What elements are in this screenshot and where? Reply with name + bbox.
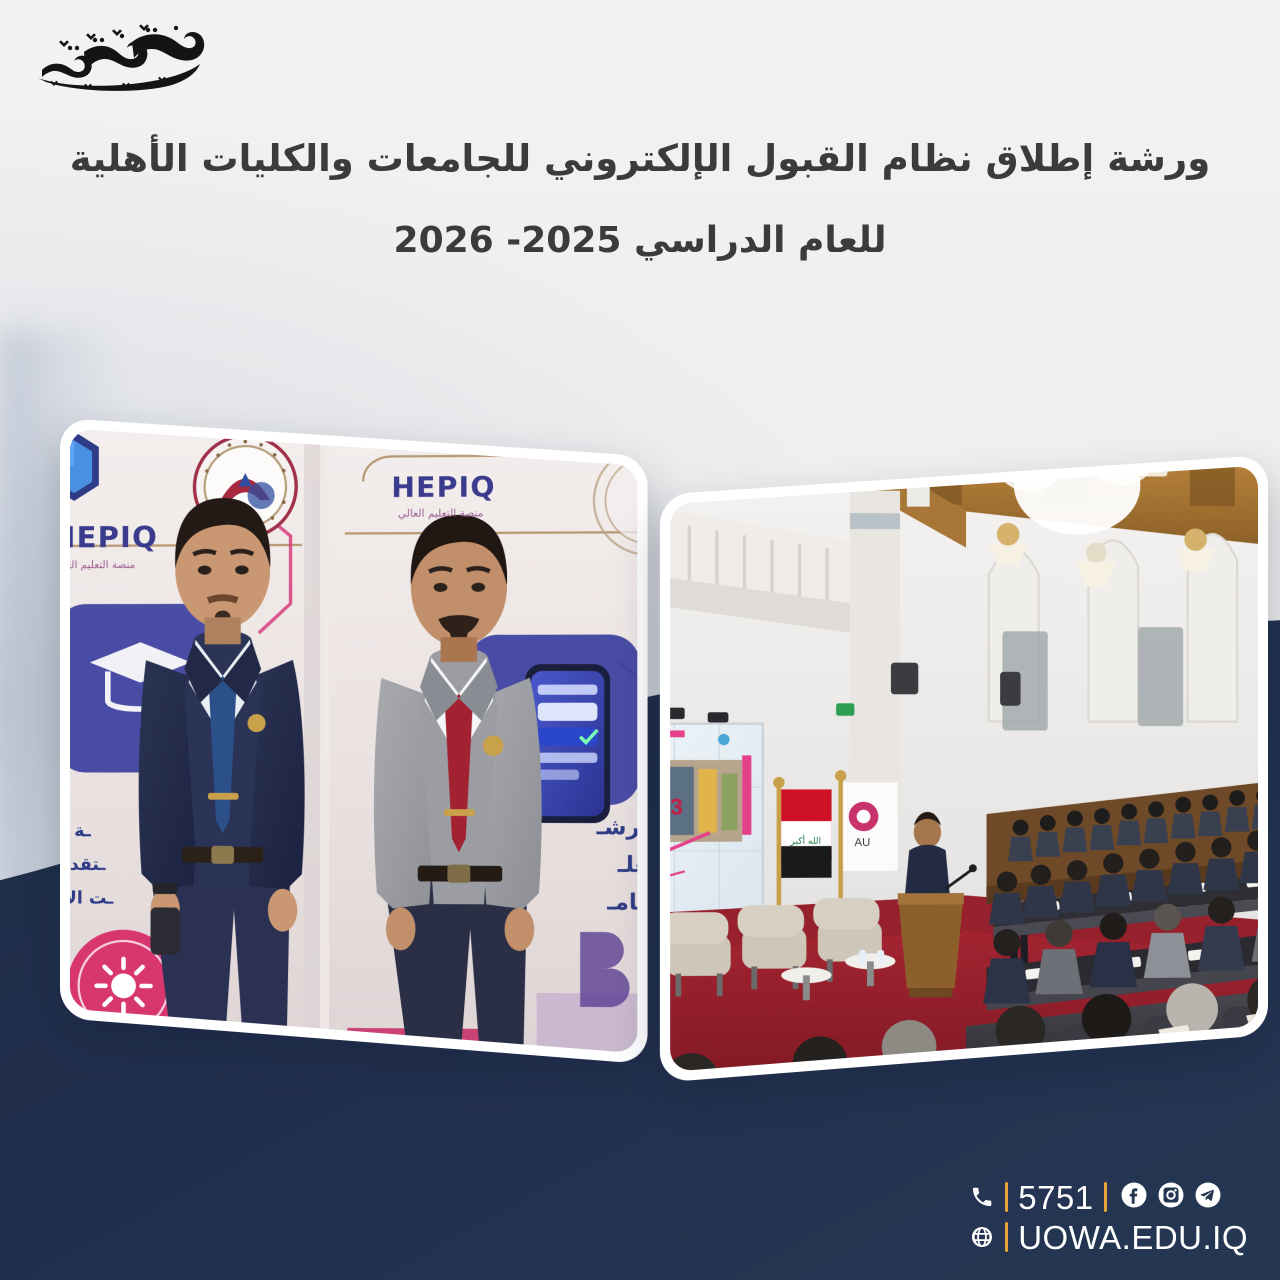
phone-number: 5751 xyxy=(1018,1181,1093,1214)
backdrop-arabic-right-2: وتعلـ xyxy=(618,851,638,877)
phone-row: 5751 xyxy=(969,1180,1222,1214)
hepiq-subtitle-right: منصة التعليم العالي xyxy=(398,508,483,520)
hepiq-backdrop-scene: HEPIQ منصة التعليم العالي HEPIQ منصة الت… xyxy=(70,429,637,1054)
divider xyxy=(1104,1182,1107,1212)
instagram-icon[interactable] xyxy=(1156,1180,1186,1214)
university-calligraphy-logo xyxy=(26,22,210,92)
photo-conference-hall-audience: 2023 xyxy=(660,455,1268,1083)
globe-icon xyxy=(969,1224,995,1250)
headline-line-1: ورشة إطلاق نظام القبول الإلكتروني للجامع… xyxy=(0,140,1280,177)
social-links xyxy=(1119,1180,1223,1214)
headline-line-2: للعام الدراسي 2025- 2026 xyxy=(0,223,1280,259)
backdrop-arabic-left-3: ـت الأهليـ xyxy=(70,887,113,908)
photo-two-officials-at-hepiq-backdrop: HEPIQ منصة التعليم العالي HEPIQ منصة الت… xyxy=(60,418,648,1064)
divider xyxy=(1005,1182,1008,1212)
svg-text:2023: 2023 xyxy=(670,794,683,819)
telegram-icon[interactable] xyxy=(1193,1180,1223,1214)
backdrop-arabic-left-2: ـتقديم ع xyxy=(70,853,105,874)
svg-text:الله أكبر: الله أكبر xyxy=(789,835,821,847)
hepiq-wordmark-left: HEPIQ xyxy=(70,520,158,554)
headline-block: ورشة إطلاق نظام القبول الإلكتروني للجامع… xyxy=(0,140,1280,259)
backdrop-arabic-right-3: الجامـ xyxy=(607,889,637,915)
backdrop-arabic-right-1: الورشـ xyxy=(597,814,638,840)
divider xyxy=(1005,1222,1008,1252)
phone-icon xyxy=(969,1184,995,1210)
website-url: UOWA.EDU.IQ xyxy=(1018,1221,1248,1254)
backdrop-arabic-left-1: ـة لنظـ xyxy=(70,819,91,840)
poster-canvas: ورشة إطلاق نظام القبول الإلكتروني للجامع… xyxy=(0,0,1280,1280)
hepiq-subtitle-left: منصة التعليم العالي xyxy=(70,560,135,572)
hepiq-wordmark-right: HEPIQ xyxy=(391,471,495,504)
conference-hall-scene: 2023 xyxy=(670,466,1258,1072)
svg-text:AU: AU xyxy=(854,837,870,849)
contact-footer: 5751 UOWA.EDU.IQ xyxy=(969,1180,1248,1254)
website-row: UOWA.EDU.IQ xyxy=(969,1220,1248,1254)
facebook-icon[interactable] xyxy=(1119,1180,1149,1214)
